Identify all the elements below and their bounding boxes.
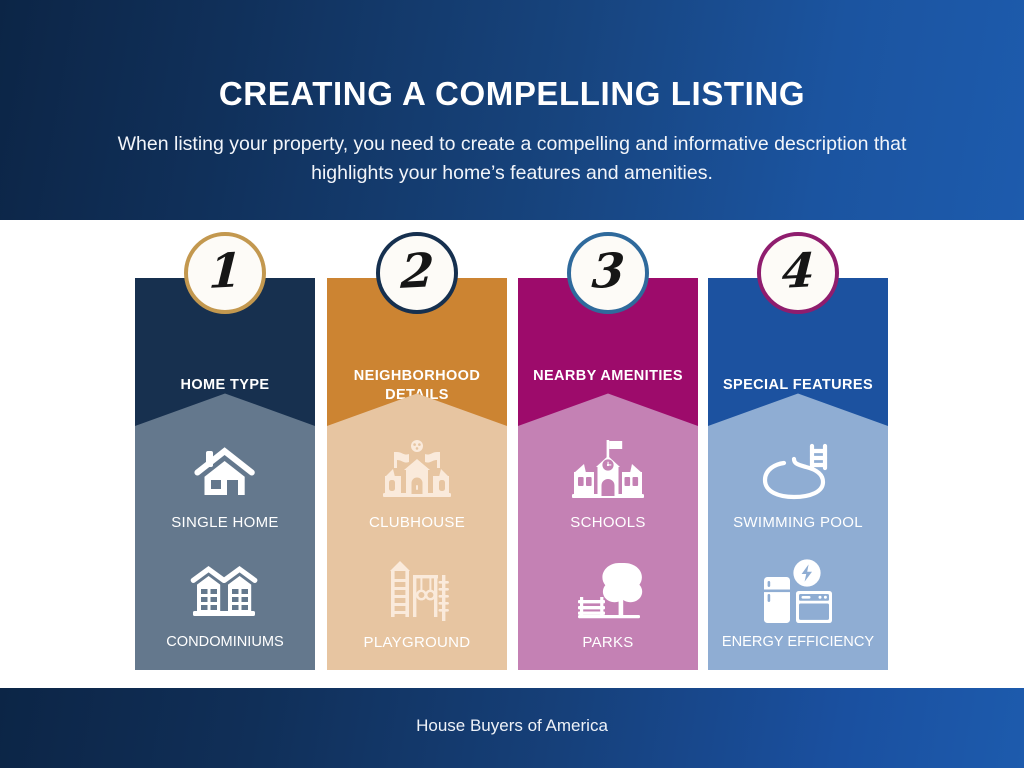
- infographic-page: CREATING A COMPELLING LISTING When listi…: [0, 0, 1024, 768]
- column-title: NEARBY AMENITIES: [522, 367, 694, 386]
- list-item[interactable]: SINGLE HOME: [135, 436, 315, 531]
- house-icon: [135, 436, 315, 508]
- column-items: SINGLE HOME: [135, 428, 315, 670]
- column-title: HOME TYPE: [139, 376, 311, 395]
- item-label: ENERGY EFFICIENCY: [708, 634, 888, 650]
- step-badge: 4: [757, 232, 839, 314]
- list-item[interactable]: CONDOMINIUMS: [135, 556, 315, 650]
- footer-banner: House Buyers of America: [0, 688, 1024, 768]
- swimming-pool-icon: [708, 436, 888, 508]
- column-items: SWIMMING POOL: [708, 428, 888, 670]
- item-label: SWIMMING POOL: [708, 514, 888, 531]
- list-item[interactable]: SCHOOLS: [518, 436, 698, 531]
- brand-name: House Buyers of America: [0, 716, 1024, 736]
- columns-container: HOME TYPE: [135, 232, 891, 672]
- step-badge: 3: [567, 232, 649, 314]
- clubhouse-icon: [327, 436, 507, 508]
- list-item[interactable]: ENERGY EFFICIENCY: [708, 556, 888, 650]
- playground-icon: [327, 556, 507, 628]
- list-item[interactable]: PARKS: [518, 556, 698, 651]
- item-label: SCHOOLS: [518, 514, 698, 531]
- column-title: NEIGHBORHOOD DETAILS: [331, 367, 503, 405]
- step-number: 1: [207, 246, 242, 298]
- item-label: PARKS: [518, 634, 698, 651]
- column-special-features[interactable]: SPECIAL FEATURES: [708, 278, 888, 670]
- energy-efficiency-icon: [708, 556, 888, 628]
- column-body: NEARBY AMENITIES: [518, 278, 698, 670]
- header-banner: CREATING A COMPELLING LISTING When listi…: [0, 0, 1024, 220]
- step-badge: 2: [376, 232, 458, 314]
- column-title: SPECIAL FEATURES: [712, 376, 884, 395]
- item-label: SINGLE HOME: [135, 514, 315, 531]
- item-label: PLAYGROUND: [327, 634, 507, 651]
- column-neighborhood-details[interactable]: NEIGHBORHOOD DETAILS: [327, 278, 507, 670]
- list-item[interactable]: CLUBHOUSE: [327, 436, 507, 531]
- column-nearby-amenities[interactable]: NEARBY AMENITIES: [518, 278, 698, 670]
- step-number: 2: [399, 246, 434, 298]
- park-tree-bench-icon: [518, 556, 698, 628]
- school-icon: [518, 436, 698, 508]
- step-number: 3: [590, 246, 625, 298]
- column-items: CLUBHOUSE: [327, 428, 507, 670]
- step-number: 4: [780, 246, 815, 298]
- column-body: NEIGHBORHOOD DETAILS: [327, 278, 507, 670]
- column-body: SPECIAL FEATURES: [708, 278, 888, 670]
- column-items: SCHOOLS: [518, 428, 698, 670]
- item-label: CLUBHOUSE: [327, 514, 507, 531]
- list-item[interactable]: PLAYGROUND: [327, 556, 507, 651]
- list-item[interactable]: SWIMMING POOL: [708, 436, 888, 531]
- page-subtitle: When listing your property, you need to …: [87, 130, 937, 188]
- condominium-icon: [135, 556, 315, 628]
- page-title: CREATING A COMPELLING LISTING: [0, 74, 1024, 114]
- step-badge: 1: [184, 232, 266, 314]
- item-label: CONDOMINIUMS: [135, 634, 315, 650]
- column-home-type[interactable]: HOME TYPE: [135, 278, 315, 670]
- column-body: HOME TYPE: [135, 278, 315, 670]
